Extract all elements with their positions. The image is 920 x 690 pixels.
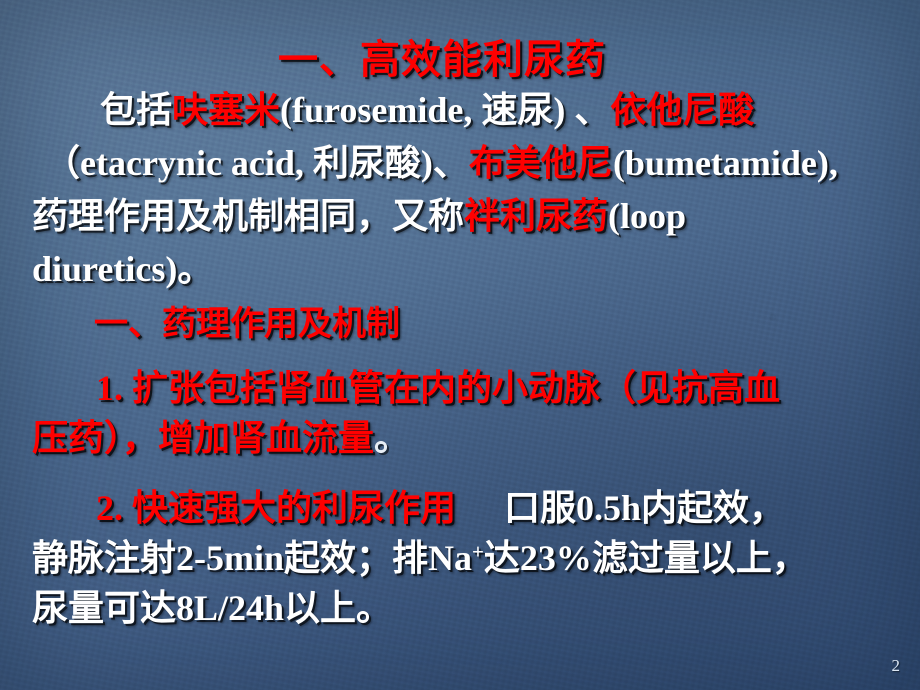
presentation-slide: 一、高效能利尿药 包括呋塞米(furosemide, 速尿) 、依他尼酸 （et… [0,0,920,690]
intro-run-3: (furosemide, 速尿) 、 [280,90,610,130]
intro2-run-1: （etacrynic acid, 利尿酸)、 [44,143,469,183]
page-number: 2 [892,656,901,676]
item1-line2-run-1: 压药），增加肾血流量 [32,418,374,458]
intro-line-1: 包括呋塞米(furosemide, 速尿) 、依他尼酸 [100,92,754,128]
slide-title: 一、高效能利尿药 [278,40,606,80]
intro-line-2: （etacrynic acid, 利尿酸)、布美他尼(bumetamide), [44,145,838,181]
intro-run-1: 包括 [100,90,172,130]
drug-name-etacrynic-cn: 依他尼酸 [610,90,754,130]
item2-heading-run: 2. 快速强大的利尿作用 [96,488,456,528]
intro-line-3: 药理作用及机制相同，又称袢利尿药(loop [32,198,686,234]
item-2-line-2: 静脉注射2-5min起效；排Na+达23%滤过量以上， [32,540,808,576]
intro3-run-3: (loop [608,196,686,236]
intro-line-4: diuretics)。 [32,251,213,287]
drug-name-furosemide-cn: 呋塞米 [172,90,280,130]
sodium-superscript-plus: + [472,540,484,564]
item2-iv-onset-run: 静脉注射2-5min起效；排Na [32,538,472,578]
intro2-run-3: (bumetamide), [613,143,838,183]
item-2-line-3: 尿量可达8L/24h以上。 [32,590,392,626]
item2-natriuresis-run: 达23%滤过量以上， [484,538,808,578]
section-heading: 一、药理作用及机制 [94,308,400,342]
slide-content: 一、高效能利尿药 包括呋塞米(furosemide, 速尿) 、依他尼酸 （et… [0,0,920,690]
item-1-line-1: 1. 扩张包括肾血管在内的小动脉（见抗高血 [96,370,780,406]
item-2-line-1: 2. 快速强大的利尿作用口服0.5h内起效， [96,490,785,526]
item2-oral-onset-run: 口服0.5h内起效， [504,488,785,528]
drug-name-bumetamide-cn: 布美他尼 [469,143,613,183]
item-1-line-2: 压药），增加肾血流量。 [32,420,410,456]
item1-line2-period: 。 [374,418,410,458]
term-loop-diuretic-cn: 袢利尿药 [464,196,608,236]
intro3-run-1: 药理作用及机制相同，又称 [32,196,464,236]
